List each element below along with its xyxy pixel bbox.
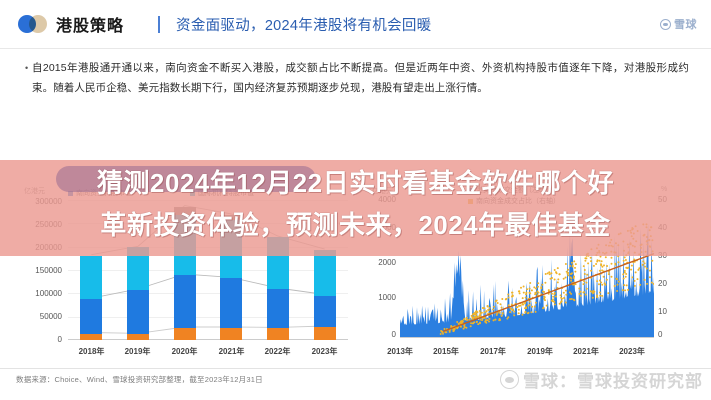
right-chart-xtick-0: 2013年 <box>376 346 424 357</box>
left-chart-ytick-6: 0 <box>0 335 62 344</box>
brand-title: 港股策略 <box>56 12 124 36</box>
bar-segment-1 <box>174 275 196 328</box>
left-chart-xtick-2: 2020年 <box>161 346 208 357</box>
xueqiu-logo: 雪球 <box>660 16 697 32</box>
right-chart-ytick-l2: 2000 <box>356 258 396 267</box>
body-paragraph: 自2015年港股通开通以来，南向资金不断买入港股，成交额占比不断提高。但是近两年… <box>32 58 689 98</box>
xueqiu-snowball-icon <box>500 370 519 389</box>
footer-source-note: 数据来源：Choice、Wind、雪球投资研究部整理，截至2023年12月31日 <box>16 374 263 385</box>
bar-segment-1 <box>220 278 242 328</box>
stacked-bar-2018年 <box>80 256 102 340</box>
bar-segment-2 <box>80 256 102 300</box>
bar-segment-0 <box>127 334 149 340</box>
right-chart-ytick-l3: 1000 <box>356 293 396 302</box>
stacked-bar-2023年 <box>314 250 336 340</box>
xueqiu-logo-label: 雪球 <box>674 16 697 32</box>
header-subtitle: 资金面驱动，2024年港股将有机会回暖 <box>176 14 431 35</box>
bar-segment-0 <box>80 334 102 340</box>
xueqiu-snowball-icon <box>660 19 671 30</box>
bar-segment-1 <box>127 290 149 334</box>
left-chart-xtick-0: 2018年 <box>68 346 115 357</box>
right-chart-ytick-r4: 10 <box>658 307 682 316</box>
bar-segment-1 <box>267 289 289 328</box>
right-chart-ytick-l4: 0 <box>356 330 396 339</box>
bar-segment-0 <box>267 328 289 340</box>
left-chart-ytick-4: 100000 <box>0 289 62 298</box>
bar-segment-0 <box>220 328 242 340</box>
two-circles-logo-icon <box>18 15 52 33</box>
header-rule <box>0 48 711 49</box>
right-chart-xtick-5: 2023年 <box>608 346 656 357</box>
left-chart-xtick-1: 2019年 <box>114 346 161 357</box>
overlay-headline: 猜测2024年12月22日实时看基金软件哪个好 革新投资体验，预测未来，2024… <box>0 162 711 246</box>
bar-segment-2 <box>314 250 336 295</box>
header-divider <box>158 16 160 33</box>
footer-watermark: 雪球：雪球投资研究部 <box>500 367 703 392</box>
body-paragraph-block: • 自2015年港股通开通以来，南向资金不断买入港股，成交额占比不断提高。但是近… <box>0 58 711 98</box>
bullet-icon: • <box>22 58 32 98</box>
bar-segment-1 <box>80 299 102 333</box>
right-chart-ytick-r3: 20 <box>658 279 682 288</box>
left-chart-xtick-4: 2022年 <box>254 346 301 357</box>
right-chart-xtick-2: 2017年 <box>469 346 517 357</box>
stacked-bar-2019年 <box>127 247 149 340</box>
left-chart-xtick-5: 2023年 <box>301 346 348 357</box>
right-chart-ytick-r5: 0 <box>658 330 682 339</box>
right-chart-xtick-3: 2019年 <box>516 346 564 357</box>
right-chart-xtick-1: 2015年 <box>422 346 470 357</box>
left-chart-ytick-5: 50000 <box>0 312 62 321</box>
bar-segment-1 <box>314 296 336 328</box>
page-header: 港股策略 资金面驱动，2024年港股将有机会回暖 雪球 <box>0 0 711 48</box>
right-chart-xtick-4: 2021年 <box>562 346 610 357</box>
bar-segment-0 <box>314 327 336 340</box>
left-chart-xtick-3: 2021年 <box>208 346 255 357</box>
footer-watermark-label: 雪球：雪球投资研究部 <box>523 367 703 392</box>
bar-segment-0 <box>174 328 196 340</box>
left-chart-ytick-3: 150000 <box>0 266 62 275</box>
